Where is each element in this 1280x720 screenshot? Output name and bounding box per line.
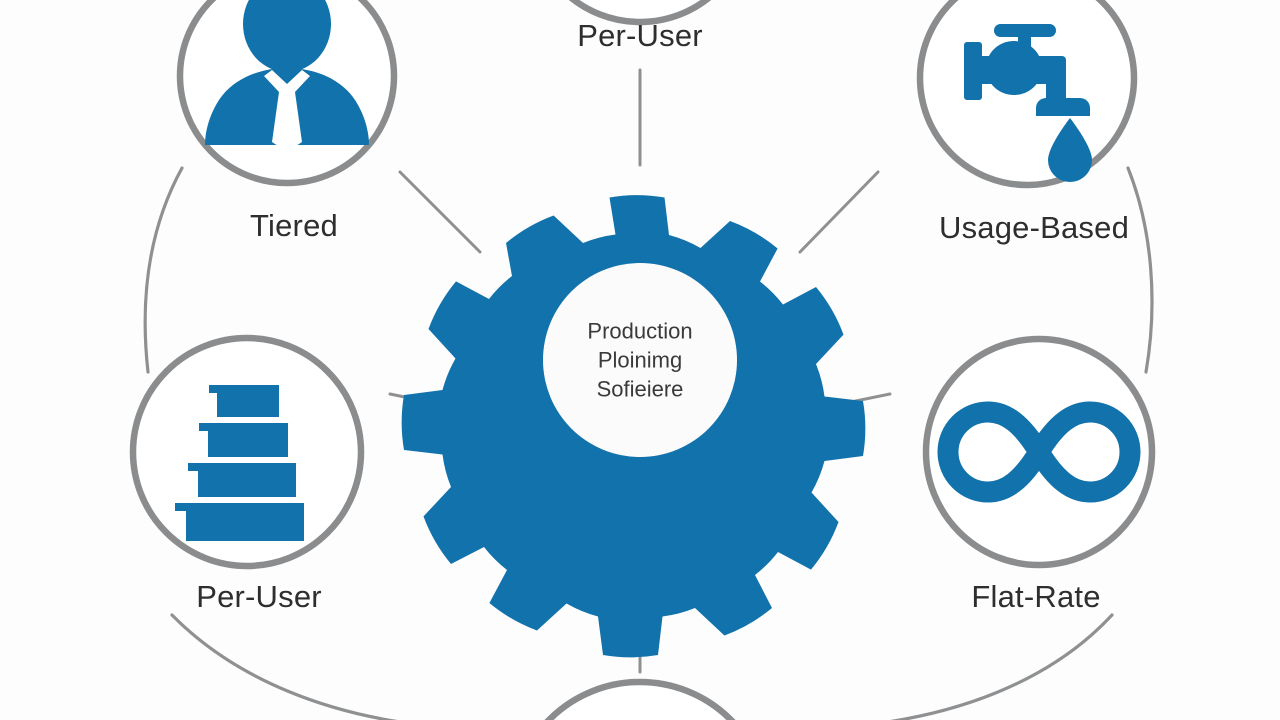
hub-label-line2: Ploinimg [545, 345, 735, 374]
node-label-top-left: Tiered [250, 210, 338, 241]
outer-arc-right-bottom [856, 615, 1112, 720]
hub-label: Production Ploinimg Sofieiere [545, 316, 735, 403]
spoke-to-top-left [400, 172, 480, 252]
node-bottom[interactable] [512, 682, 768, 720]
gear-hub[interactable] [402, 195, 866, 657]
outer-arc-left-bottom [172, 615, 432, 720]
spoke-to-top-right [800, 172, 878, 252]
outer-arc-topright-right [1128, 168, 1152, 372]
node-top-right[interactable] [920, 0, 1134, 185]
node-right[interactable] [926, 339, 1152, 565]
node-bottom-ring [512, 682, 768, 720]
node-label-right: Flat-Rate [971, 581, 1100, 612]
node-top-left[interactable] [180, 0, 394, 183]
node-label-top: Per-User [577, 20, 703, 51]
hub-label-line3: Sofieiere [545, 375, 735, 404]
pricing-models-diagram: Production Ploinimg Sofieiere Per-User T… [0, 0, 1280, 720]
hub-label-line1: Production [545, 316, 735, 345]
outer-arc-topleft-left [145, 168, 182, 372]
node-left[interactable] [133, 338, 361, 566]
node-label-top-right: Usage-Based [939, 212, 1129, 243]
node-label-left: Per-User [196, 581, 322, 612]
